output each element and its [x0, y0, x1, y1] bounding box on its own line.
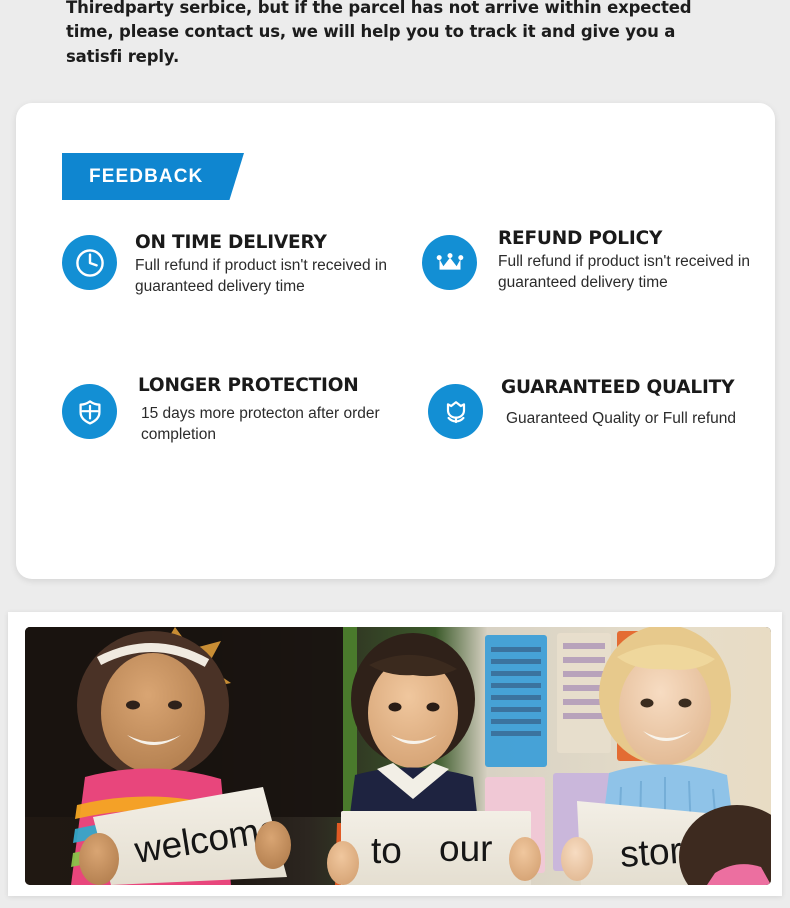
feature-title: GUARANTEED QUALITY	[501, 377, 736, 398]
feedback-banner: FEEDBACK	[62, 153, 244, 200]
classroom-children-photo: welcome to our	[25, 627, 771, 885]
feedback-banner-label: FEEDBACK	[89, 167, 203, 186]
feature-title: ON TIME DELIVERY	[135, 232, 416, 253]
feedback-card: FEEDBACK ON TIME DELIVERY Full refund if…	[16, 103, 775, 579]
feature-description: Full refund if product isn't received in…	[135, 256, 416, 297]
feature-description: Guaranteed Quality or Full refund	[501, 409, 736, 429]
feature-grid: ON TIME DELIVERY Full refund if product …	[16, 231, 775, 445]
feature-description: Full refund if product isn't received in…	[498, 252, 775, 293]
feature-row: ON TIME DELIVERY Full refund if product …	[16, 231, 775, 297]
feature-refund-policy: REFUND POLICY Full refund if product isn…	[416, 231, 775, 297]
feature-text: ON TIME DELIVERY Full refund if product …	[117, 231, 416, 297]
clock-icon	[62, 235, 117, 290]
flower-icon	[428, 384, 483, 439]
feature-text: LONGER PROTECTION 15 days more protecton…	[117, 374, 416, 445]
feature-text: REFUND POLICY Full refund if product isn…	[477, 227, 775, 293]
feature-text: GUARANTEED QUALITY Guaranteed Quality or…	[483, 376, 736, 430]
feature-title: LONGER PROTECTION	[138, 375, 416, 396]
feature-row: LONGER PROTECTION 15 days more protecton…	[16, 380, 775, 445]
feature-on-time-delivery: ON TIME DELIVERY Full refund if product …	[16, 231, 416, 297]
feature-longer-protection: LONGER PROTECTION 15 days more protecton…	[16, 380, 416, 445]
feature-description: 15 days more protecton after order compl…	[138, 404, 416, 445]
feature-guaranteed-quality: GUARANTEED QUALITY Guaranteed Quality or…	[416, 380, 775, 445]
intro-paragraph-text: Thiredparty serbice, but if the parcel h…	[66, 0, 691, 66]
crown-icon	[422, 235, 477, 290]
sign-word-to: to	[371, 830, 402, 871]
feature-title: REFUND POLICY	[498, 228, 775, 249]
sign-word-our: our	[439, 828, 492, 869]
intro-paragraph: Thiredparty serbice, but if the parcel h…	[66, 0, 706, 69]
photo-banner-panel: welcome to our	[8, 612, 782, 896]
shield-icon	[62, 384, 117, 439]
photo-illustration: welcome to our	[25, 627, 771, 885]
